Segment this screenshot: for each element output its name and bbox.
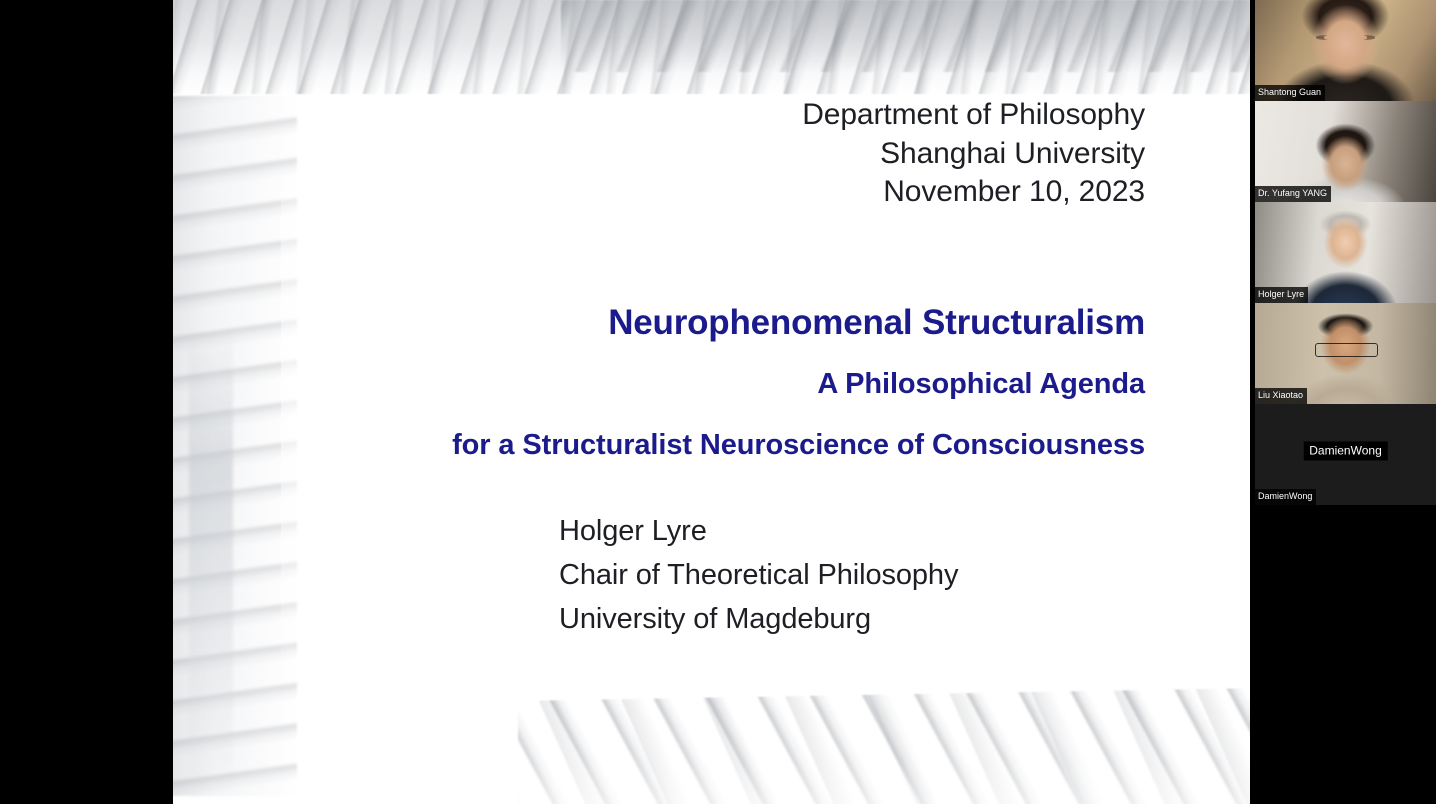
participant-name-label: DamienWong xyxy=(1255,489,1316,505)
participant-name-label: Dr. Yufang YANG xyxy=(1255,186,1331,202)
screen-share-stage[interactable]: Department of Philosophy Shanghai Univer… xyxy=(0,0,1255,804)
presenter-position: Chair of Theoretical Philosophy xyxy=(559,553,958,597)
affiliation-department: Department of Philosophy xyxy=(802,96,1145,135)
slide-title: Neurophenomenal Structuralism xyxy=(452,300,1145,346)
presentation-slide[interactable]: Department of Philosophy Shanghai Univer… xyxy=(173,0,1250,804)
affiliation-university: Shanghai University xyxy=(802,135,1145,174)
affiliation-date: November 10, 2023 xyxy=(802,173,1145,212)
slide-title-block: Neurophenomenal Structuralism A Philosop… xyxy=(452,300,1145,465)
video-conference-window: Department of Philosophy Shanghai Univer… xyxy=(0,0,1436,804)
camera-off-name-placeholder: DamienWong xyxy=(1303,442,1387,461)
presenter-institution: University of Magdeburg xyxy=(559,597,958,641)
participant-tile-yufang-yang[interactable]: Dr. Yufang YANG xyxy=(1255,101,1436,202)
participant-tile-liu-xiaotao[interactable]: Liu Xiaotao xyxy=(1255,303,1436,404)
presenter-block: Holger Lyre Chair of Theoretical Philoso… xyxy=(559,509,958,641)
slide-content: Department of Philosophy Shanghai Univer… xyxy=(173,0,1250,804)
presenter-name: Holger Lyre xyxy=(559,509,958,553)
affiliation-block: Department of Philosophy Shanghai Univer… xyxy=(802,96,1145,212)
participant-tile-holger-lyre[interactable]: Holger Lyre xyxy=(1255,202,1436,303)
slide-subtitle: A Philosophical Agenda xyxy=(452,364,1145,404)
slide-subtitle-2: for a Structuralist Neuroscience of Cons… xyxy=(452,425,1145,465)
participant-name-label: Holger Lyre xyxy=(1255,287,1308,303)
participant-name-label: Liu Xiaotao xyxy=(1255,388,1307,404)
participant-tile-damienwong[interactable]: DamienWong DamienWong xyxy=(1255,404,1436,505)
participant-tile-shantong-guan[interactable]: Shantong Guan xyxy=(1255,0,1436,101)
participant-strip: Shantong Guan Dr. Yufang YANG Holger Lyr… xyxy=(1255,0,1436,804)
participant-name-label: Shantong Guan xyxy=(1255,85,1325,101)
